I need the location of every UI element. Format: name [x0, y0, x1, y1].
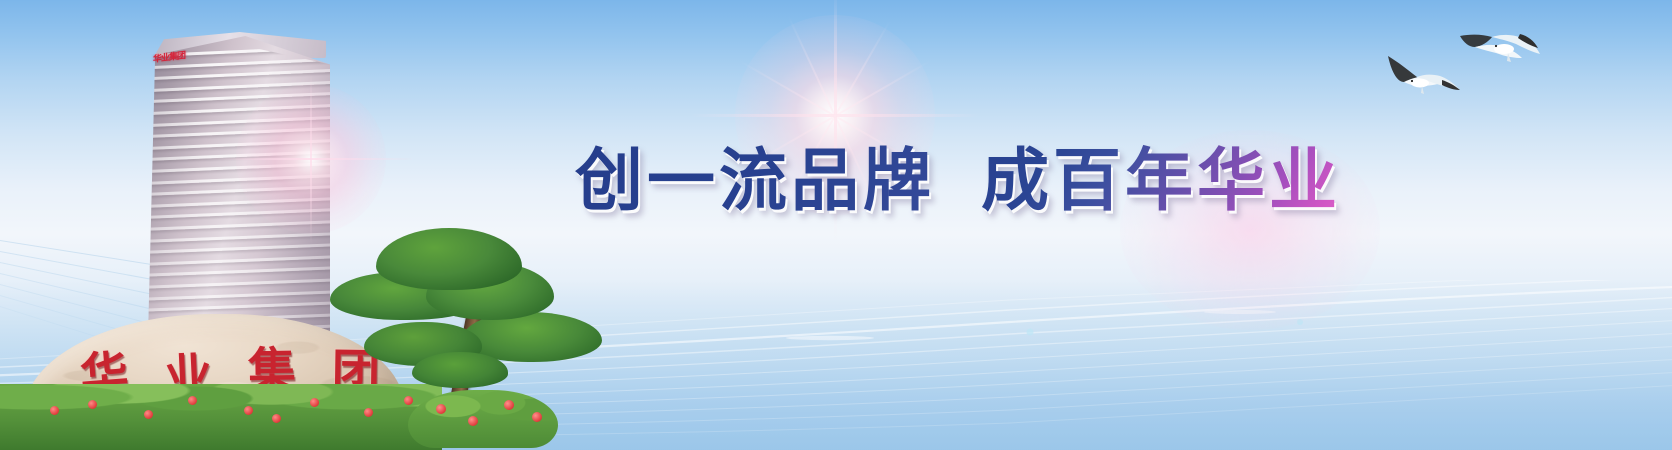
- office-tower: 华业集团: [128, 22, 344, 352]
- tower-floor-band: [142, 127, 330, 139]
- tower-floor-band: [142, 80, 330, 92]
- bonsai-canopy: [376, 228, 522, 290]
- tower-floor-band: [142, 173, 330, 185]
- shrub-flower: [504, 400, 514, 410]
- tower-floor-band: [142, 115, 330, 127]
- tower-floor-band: [142, 162, 330, 174]
- tower-floor-band: [142, 231, 330, 242]
- slogan-phrase-1: 创一流品牌: [575, 125, 935, 224]
- hedge-flower: [88, 400, 97, 409]
- tower-floor-band: [142, 243, 330, 254]
- hedge-flower: [244, 406, 253, 415]
- hedge-flower: [50, 406, 59, 415]
- tower-floor-band: [142, 68, 330, 80]
- tower-floor-band: [142, 208, 330, 219]
- hedge-flower: [272, 414, 281, 423]
- tower-floor-band: [142, 301, 330, 312]
- tower-floor-band: [142, 266, 330, 277]
- hedge-flower: [310, 398, 319, 407]
- shrub-flower: [436, 404, 446, 414]
- tower-floor-band: [142, 197, 330, 209]
- bonsai-canopy: [412, 352, 508, 388]
- hedge-flower: [188, 396, 197, 405]
- tower-floor-band: [142, 255, 330, 266]
- tower-floor-band: [142, 290, 330, 301]
- seagull-icon-2: [1458, 14, 1540, 74]
- shrub-flower: [532, 412, 542, 422]
- tower-floor-band: [142, 138, 330, 150]
- seagull-icon-1: [1384, 52, 1462, 98]
- tower-floor-bands: [142, 46, 330, 352]
- bonsai-pine-tree: [330, 226, 600, 450]
- tower-floor-band: [142, 185, 330, 197]
- slogan-phrase-2: 成百年华业: [981, 125, 1341, 224]
- banner-slogan: 创一流品牌 成百年华业: [575, 128, 1375, 220]
- tower-floor-band: [142, 220, 330, 231]
- tower-floor-band: [142, 278, 330, 289]
- tower-floor-band: [142, 103, 330, 115]
- bonsai-ground-shrub: [408, 390, 558, 448]
- tower-floor-band: [142, 150, 330, 162]
- shrub-flower: [468, 416, 478, 426]
- hedge-flower: [144, 410, 153, 419]
- tower-floor-band: [142, 92, 330, 104]
- hero-banner: 华业集团 华业集团: [0, 0, 1672, 450]
